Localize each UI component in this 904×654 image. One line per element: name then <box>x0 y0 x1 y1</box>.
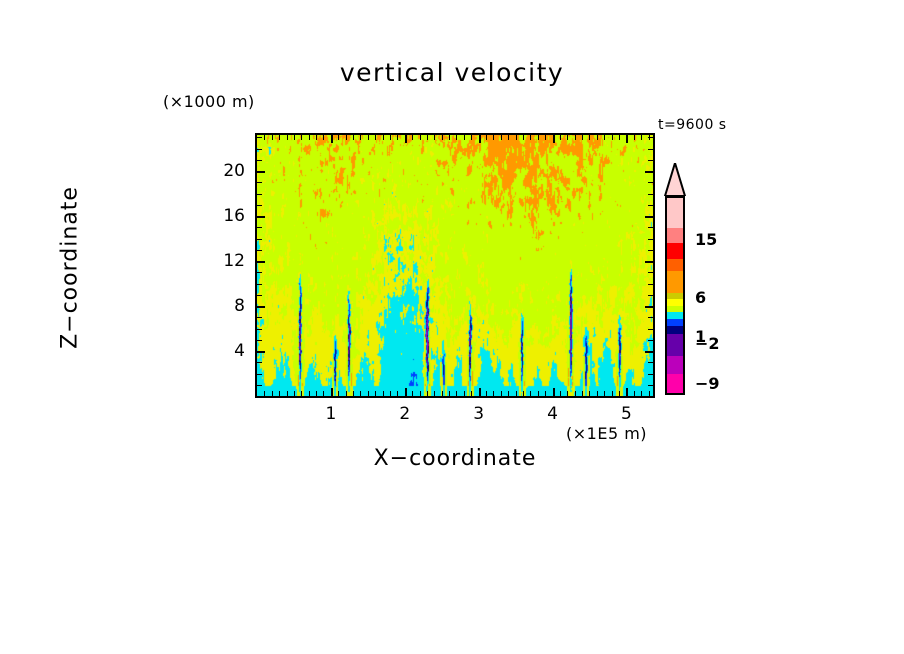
colorbar-tick-label: −2 <box>695 334 720 353</box>
axis-tick <box>397 391 398 396</box>
axis-tick <box>471 135 472 140</box>
axis-tick <box>538 391 539 396</box>
axis-tick <box>582 391 583 396</box>
axis-tick <box>604 391 605 396</box>
y-axis-title: Z−coordinate <box>58 138 83 398</box>
axis-tick <box>257 306 265 308</box>
axis-tick <box>449 391 450 396</box>
axis-tick <box>412 135 413 140</box>
colorbar <box>663 163 687 395</box>
x-tick-label: 4 <box>540 404 566 424</box>
axis-tick <box>257 340 262 341</box>
x-axis-unit-label: (×1E5 m) <box>566 424 647 443</box>
x-tick-label: 1 <box>318 404 344 424</box>
colorbar-band <box>667 198 683 228</box>
axis-tick <box>316 135 317 140</box>
y-tick-label: 16 <box>215 206 245 226</box>
colorbar-band <box>667 271 683 293</box>
colorbar-band <box>667 259 683 271</box>
axis-tick <box>530 135 531 140</box>
axis-tick <box>323 135 324 140</box>
y-tick-label: 20 <box>215 161 245 181</box>
axis-tick <box>323 391 324 396</box>
axis-tick <box>560 135 561 140</box>
axis-tick <box>648 340 653 341</box>
axis-tick <box>612 391 613 396</box>
axis-tick <box>471 391 472 396</box>
axis-tick <box>397 135 398 140</box>
axis-tick <box>257 227 262 228</box>
axis-tick <box>501 135 502 140</box>
axis-tick <box>645 306 653 308</box>
axis-tick <box>501 391 502 396</box>
axis-tick <box>479 388 481 396</box>
axis-tick <box>257 385 262 386</box>
colorbar-bands <box>665 196 685 395</box>
axis-tick <box>456 391 457 396</box>
axis-tick <box>338 391 339 396</box>
axis-tick <box>626 135 628 143</box>
axis-tick <box>434 391 435 396</box>
axis-tick <box>648 284 653 285</box>
axis-tick <box>553 135 555 143</box>
axis-tick <box>567 135 568 140</box>
axis-tick <box>545 135 546 140</box>
axis-tick <box>257 160 262 161</box>
axis-tick <box>648 160 653 161</box>
axis-tick <box>257 329 262 330</box>
axis-tick <box>589 135 590 140</box>
axis-tick <box>634 391 635 396</box>
colorbar-band <box>667 319 683 326</box>
colorbar-band <box>667 243 683 259</box>
axis-tick <box>648 295 653 296</box>
colorbar-band <box>667 356 683 374</box>
axis-tick <box>508 135 509 140</box>
axis-tick <box>405 135 407 143</box>
axis-tick <box>626 388 628 396</box>
axis-tick <box>530 391 531 396</box>
y-axis-unit-label: (×1000 m) <box>163 92 255 111</box>
axis-tick <box>264 135 265 140</box>
axis-tick <box>257 137 262 138</box>
axis-tick <box>645 171 653 173</box>
axis-tick <box>464 135 465 140</box>
colorbar-band <box>667 326 683 334</box>
axis-tick <box>279 391 280 396</box>
axis-tick <box>648 272 653 273</box>
axis-tick <box>508 391 509 396</box>
axis-tick <box>645 261 653 263</box>
axis-tick <box>641 135 642 140</box>
axis-tick <box>294 135 295 140</box>
axis-tick <box>257 374 262 375</box>
axis-tick <box>331 388 333 396</box>
contour-plot-area <box>255 133 655 398</box>
colorbar-tick-label: 15 <box>695 230 717 249</box>
axis-tick <box>645 216 653 218</box>
axis-tick <box>420 391 421 396</box>
axis-tick <box>257 149 262 150</box>
axis-tick <box>257 182 262 183</box>
axis-tick <box>619 135 620 140</box>
axis-tick <box>309 135 310 140</box>
axis-tick <box>442 391 443 396</box>
axis-tick <box>390 135 391 140</box>
axis-tick <box>486 391 487 396</box>
axis-tick <box>486 135 487 140</box>
axis-tick <box>604 135 605 140</box>
axis-tick <box>338 135 339 140</box>
axis-tick <box>412 391 413 396</box>
axis-tick <box>294 391 295 396</box>
axis-tick <box>257 171 265 173</box>
axis-tick <box>257 261 265 263</box>
axis-tick <box>427 391 428 396</box>
axis-tick <box>648 182 653 183</box>
axis-tick <box>287 391 288 396</box>
axis-tick <box>567 391 568 396</box>
page-title: vertical velocity <box>0 58 904 87</box>
axis-tick <box>582 135 583 140</box>
colorbar-band <box>667 374 683 393</box>
axis-tick <box>645 351 653 353</box>
axis-tick <box>257 194 262 195</box>
colorbar-band <box>667 334 683 356</box>
axis-tick <box>648 205 653 206</box>
axis-tick <box>648 137 653 138</box>
colorbar-tick-label: 6 <box>695 288 706 307</box>
axis-tick <box>353 391 354 396</box>
axis-tick <box>449 135 450 140</box>
colorbar-band <box>667 312 683 319</box>
axis-tick <box>257 284 262 285</box>
axis-tick <box>434 135 435 140</box>
axis-tick <box>383 135 384 140</box>
x-axis-title: X−coordinate <box>255 446 655 471</box>
velocity-field-canvas <box>257 135 653 396</box>
axis-tick <box>257 272 262 273</box>
axis-tick <box>648 250 653 251</box>
axis-tick <box>264 391 265 396</box>
axis-tick <box>257 317 262 318</box>
axis-tick <box>538 135 539 140</box>
axis-tick <box>301 135 302 140</box>
axis-tick <box>360 135 361 140</box>
axis-tick <box>375 135 376 140</box>
axis-tick <box>257 295 262 296</box>
axis-tick <box>360 391 361 396</box>
x-tick-label: 2 <box>392 404 418 424</box>
axis-tick <box>368 391 369 396</box>
axis-tick <box>272 391 273 396</box>
axis-tick <box>456 135 457 140</box>
axis-tick <box>575 135 576 140</box>
axis-tick <box>420 135 421 140</box>
axis-tick <box>257 239 262 240</box>
axis-tick <box>523 135 524 140</box>
axis-tick <box>316 391 317 396</box>
x-tick-label: 5 <box>613 404 639 424</box>
axis-tick <box>279 135 280 140</box>
axis-tick <box>648 362 653 363</box>
colorbar-arrow-icon <box>663 163 687 196</box>
axis-tick <box>442 135 443 140</box>
axis-tick <box>516 391 517 396</box>
axis-tick <box>648 239 653 240</box>
axis-tick <box>648 149 653 150</box>
colorbar-band <box>667 228 683 243</box>
axis-tick <box>464 391 465 396</box>
axis-tick <box>368 135 369 140</box>
axis-tick <box>493 391 494 396</box>
axis-tick <box>641 391 642 396</box>
axis-tick <box>648 227 653 228</box>
axis-tick <box>346 135 347 140</box>
x-tick-label: 3 <box>466 404 492 424</box>
axis-tick <box>272 135 273 140</box>
colorbar-band <box>667 299 683 306</box>
axis-tick <box>648 385 653 386</box>
axis-tick <box>648 317 653 318</box>
axis-tick <box>257 351 265 353</box>
axis-tick <box>257 362 262 363</box>
colorbar-tick-label: −9 <box>695 374 720 393</box>
axis-tick <box>257 216 265 218</box>
axis-tick <box>405 388 407 396</box>
axis-tick <box>516 135 517 140</box>
axis-tick <box>648 374 653 375</box>
axis-tick <box>427 135 428 140</box>
y-tick-label: 4 <box>215 341 245 361</box>
axis-tick <box>560 391 561 396</box>
axis-tick <box>545 391 546 396</box>
time-annotation: t=9600 s <box>658 117 727 133</box>
axis-tick <box>648 329 653 330</box>
axis-tick <box>301 391 302 396</box>
axis-tick <box>649 391 650 396</box>
axis-tick <box>597 135 598 140</box>
axis-tick <box>553 388 555 396</box>
axis-tick <box>257 250 262 251</box>
axis-tick <box>523 391 524 396</box>
y-tick-label: 8 <box>215 296 245 316</box>
axis-tick <box>383 391 384 396</box>
axis-tick <box>589 391 590 396</box>
y-tick-label: 12 <box>215 251 245 271</box>
axis-tick <box>353 135 354 140</box>
axis-tick <box>346 391 347 396</box>
axis-tick <box>309 391 310 396</box>
axis-tick <box>648 194 653 195</box>
axis-tick <box>257 205 262 206</box>
axis-tick <box>287 135 288 140</box>
axis-tick <box>619 391 620 396</box>
axis-tick <box>634 135 635 140</box>
axis-tick <box>597 391 598 396</box>
axis-tick <box>493 135 494 140</box>
axis-tick <box>331 135 333 143</box>
axis-tick <box>479 135 481 143</box>
axis-tick <box>390 391 391 396</box>
axis-tick <box>575 391 576 396</box>
axis-tick <box>375 391 376 396</box>
axis-tick <box>612 135 613 140</box>
